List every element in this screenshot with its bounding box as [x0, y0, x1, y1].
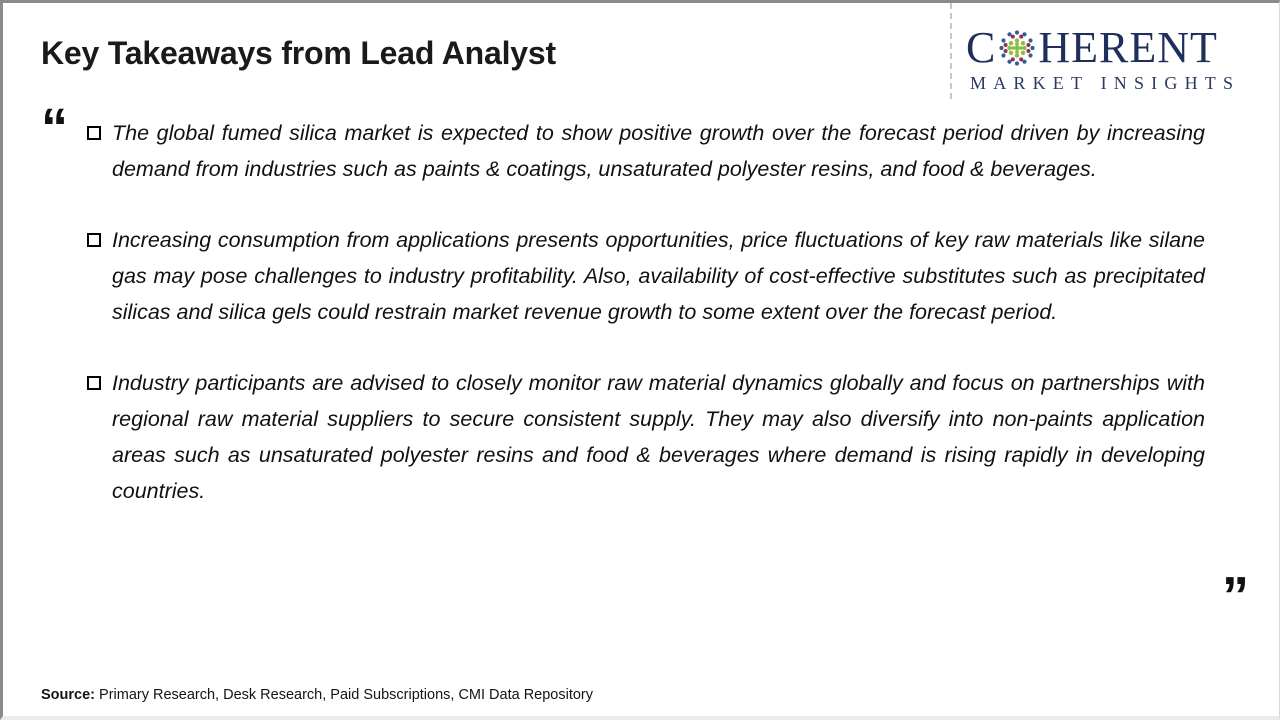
source-line: Source: Primary Research, Desk Research,…	[41, 687, 593, 703]
logo-wordmark: C	[966, 25, 1266, 71]
logo-divider	[950, 3, 952, 99]
dotted-globe-icon	[997, 28, 1037, 68]
logo-letter-c: C	[966, 26, 996, 70]
source-text: Primary Research, Desk Research, Paid Su…	[95, 687, 593, 703]
page-title: Key Takeaways from Lead Analyst	[41, 35, 556, 72]
takeaways-list: The global fumed silica market is expect…	[87, 115, 1205, 509]
slide-canvas: Key Takeaways from Lead Analyst C	[0, 0, 1280, 720]
coherent-market-insights-logo: C	[966, 25, 1266, 99]
takeaway-text: Industry participants are advised to clo…	[112, 371, 1205, 503]
logo-subtitle: MARKET INSIGHTS	[970, 73, 1266, 94]
takeaway-item: Industry participants are advised to clo…	[87, 365, 1205, 509]
square-bullet-icon	[87, 115, 107, 151]
takeaway-text: The global fumed silica market is expect…	[112, 121, 1205, 181]
takeaway-text: Increasing consumption from applications…	[112, 228, 1205, 324]
source-label: Source:	[41, 687, 95, 703]
opening-quote-icon: “	[41, 101, 66, 155]
logo-letters-herent: HERENT	[1038, 26, 1218, 70]
closing-quote-icon: ”	[1222, 569, 1247, 623]
square-bullet-icon	[87, 222, 107, 258]
slide-header: Key Takeaways from Lead Analyst C	[3, 3, 1280, 103]
takeaway-item: Increasing consumption from applications…	[87, 222, 1205, 330]
takeaway-item: The global fumed silica market is expect…	[87, 115, 1205, 187]
square-bullet-icon	[87, 365, 107, 401]
